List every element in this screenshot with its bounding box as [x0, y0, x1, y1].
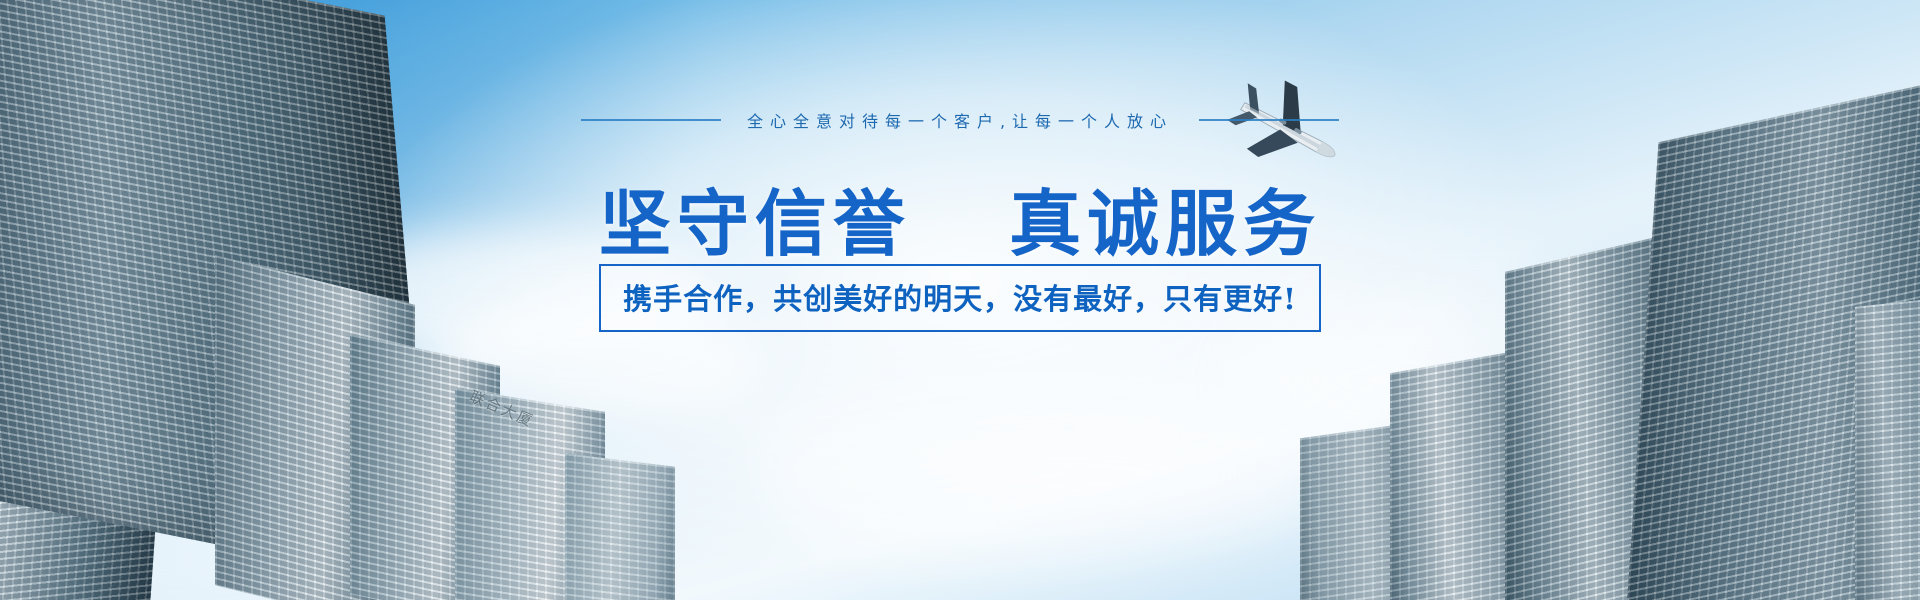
headline-part-1: 坚守信誉 — [599, 181, 911, 266]
subtitle-wrapper: 携手合作，共创美好的明天，没有最好，只有更好! — [0, 264, 1920, 332]
divider-left — [581, 119, 721, 121]
tagline-row: 全心全意对待每一个客户,让每一个人放心 — [0, 108, 1920, 132]
headline-part-2: 真诚服务 — [1009, 181, 1321, 266]
hero-banner: 联合大厦 全心全意对待每一个客户,让每一个 — [0, 0, 1920, 600]
page-title: 坚守信誉 真诚服务 — [0, 165, 1920, 270]
divider-right — [1199, 119, 1339, 121]
banner-content: 全心全意对待每一个客户,让每一个人放心 坚守信誉 真诚服务 携手合作，共创美好的… — [0, 0, 1920, 600]
subtitle-box: 携手合作，共创美好的明天，没有最好，只有更好! — [599, 264, 1321, 332]
tagline-text: 全心全意对待每一个客户,让每一个人放心 — [747, 108, 1173, 132]
